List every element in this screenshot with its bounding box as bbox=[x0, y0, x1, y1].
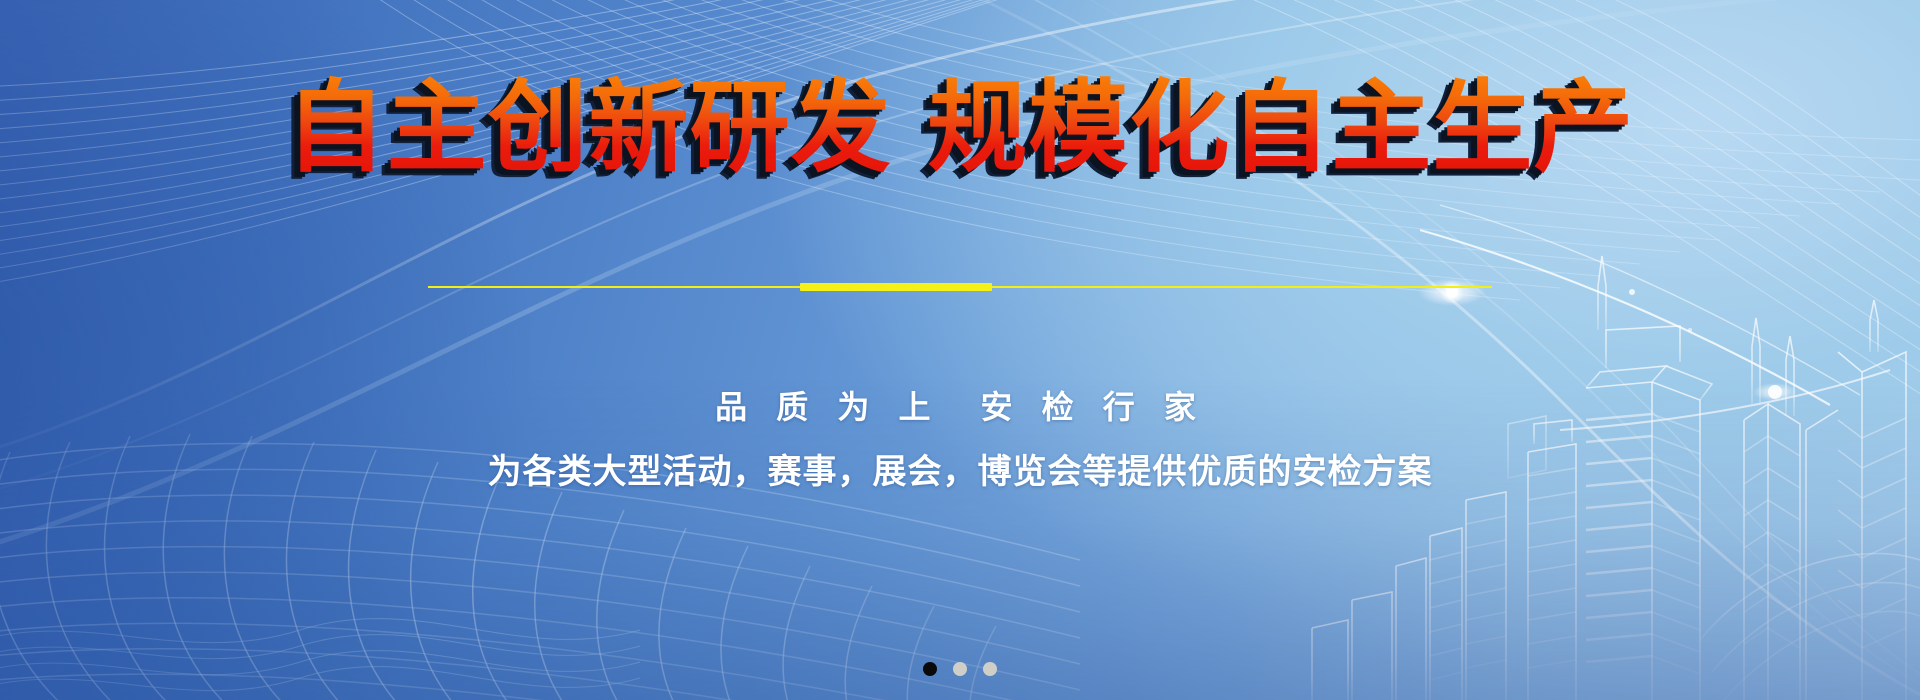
banner-content: 自主创新研发 规模化自主生产 品 质 为 上 安 检 行 家 为各类大型活动，赛… bbox=[0, 0, 1920, 700]
carousel-dot-3[interactable] bbox=[983, 662, 997, 676]
hero-banner: 自主创新研发 规模化自主生产 品 质 为 上 安 检 行 家 为各类大型活动，赛… bbox=[0, 0, 1920, 700]
banner-subtitle-description: 为各类大型活动，赛事，展会，博览会等提供优质的安检方案 bbox=[0, 444, 1920, 493]
carousel-dot-2[interactable] bbox=[953, 662, 967, 676]
headline-divider bbox=[428, 282, 1492, 292]
carousel-dot-1[interactable] bbox=[923, 662, 937, 676]
banner-subtitle-primary: 品 质 为 上 安 检 行 家 bbox=[0, 382, 1920, 428]
carousel-indicators[interactable] bbox=[0, 662, 1920, 676]
banner-headline: 自主创新研发 规模化自主生产 bbox=[0, 76, 1920, 180]
divider-accent-bar bbox=[800, 283, 992, 291]
